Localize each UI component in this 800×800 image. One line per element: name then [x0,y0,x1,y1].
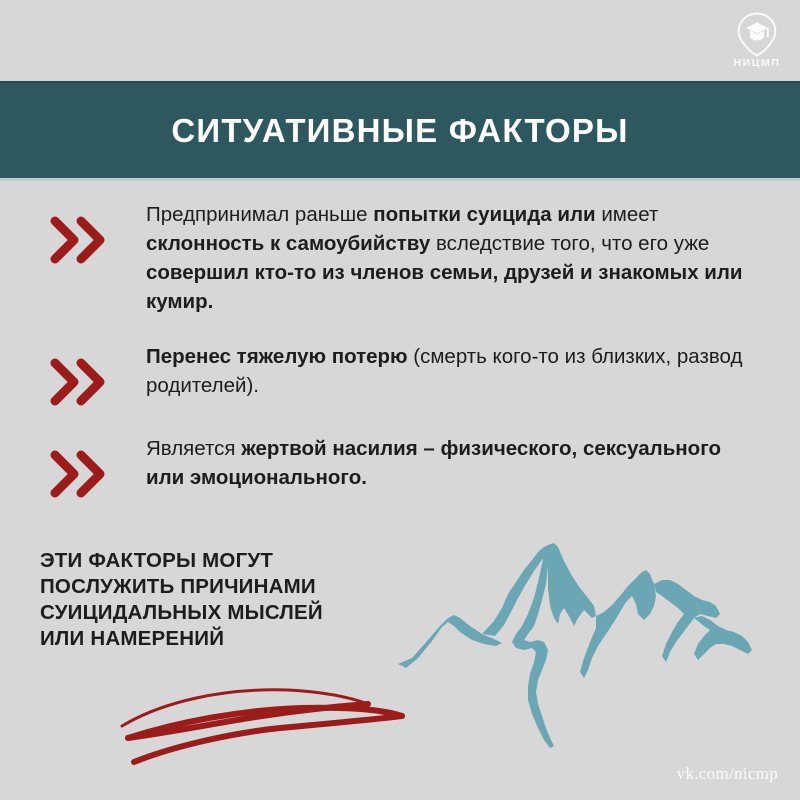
bullet-list: Предпринимал раньше попытки суицида или … [0,200,800,526]
list-item: Является жертвой насилия – физического, … [0,434,800,500]
summary-statement: ЭТИ ФАКТОРЫ МОГУТ ПОСЛУЖИТЬ ПРИЧИНАМИ СУ… [40,548,380,652]
list-item-text: Является жертвой насилия – физического, … [146,434,750,492]
infographic-poster: НИЦМП СИТУАТИВНЫЕ ФАКТОРЫ Предпринимал р… [0,0,800,800]
map-pin-graduation-cap-icon [735,11,779,57]
text-segment-bold: склонность к самоубийству [146,232,430,255]
summary-line: СУИЦИДАЛЬНЫХ МЫСЛЕЙ [40,600,380,626]
page-title: СИТУАТИВНЫЕ ФАКТОРЫ [171,112,628,150]
text-segment: Предпринимал раньше [146,203,373,226]
summary-line: ИЛИ НАМЕРЕНИЙ [40,626,380,652]
list-item-text: Предпринимал раньше попытки суицида или … [146,200,750,316]
footer-watermark: vk.com/nicmp [677,764,778,784]
text-segment-bold: Перенес тяжелую потерю [146,345,408,368]
list-item: Перенес тяжелую потерю (смерть кого-то и… [0,342,800,408]
double-chevron-right-icon [48,448,110,500]
brand-logo: НИЦМП [724,11,790,73]
list-item-text: Перенес тяжелую потерю (смерть кого-то и… [146,342,750,400]
summary-line: ПОСЛУЖИТЬ ПРИЧИНАМИ [40,574,380,600]
text-segment: Является [146,437,241,460]
header-banner: СИТУАТИВНЫЕ ФАКТОРЫ [0,81,800,178]
text-segment: вследствие того, что его уже [430,232,709,255]
text-segment: имеет [596,203,659,226]
brand-logo-text: НИЦМП [733,58,780,69]
text-segment-bold: попытки суицида или [373,203,595,226]
list-item: Предпринимал раньше попытки суицида или … [0,200,800,316]
text-segment-bold: совершил кто-то из членов семьи, друзей … [146,261,743,313]
mountain-range-illustration [398,522,798,752]
red-scribble-underline [112,676,412,768]
banner-divider [0,178,800,181]
double-chevron-right-icon [48,214,110,266]
summary-line: ЭТИ ФАКТОРЫ МОГУТ [40,548,380,574]
double-chevron-right-icon [48,356,110,408]
